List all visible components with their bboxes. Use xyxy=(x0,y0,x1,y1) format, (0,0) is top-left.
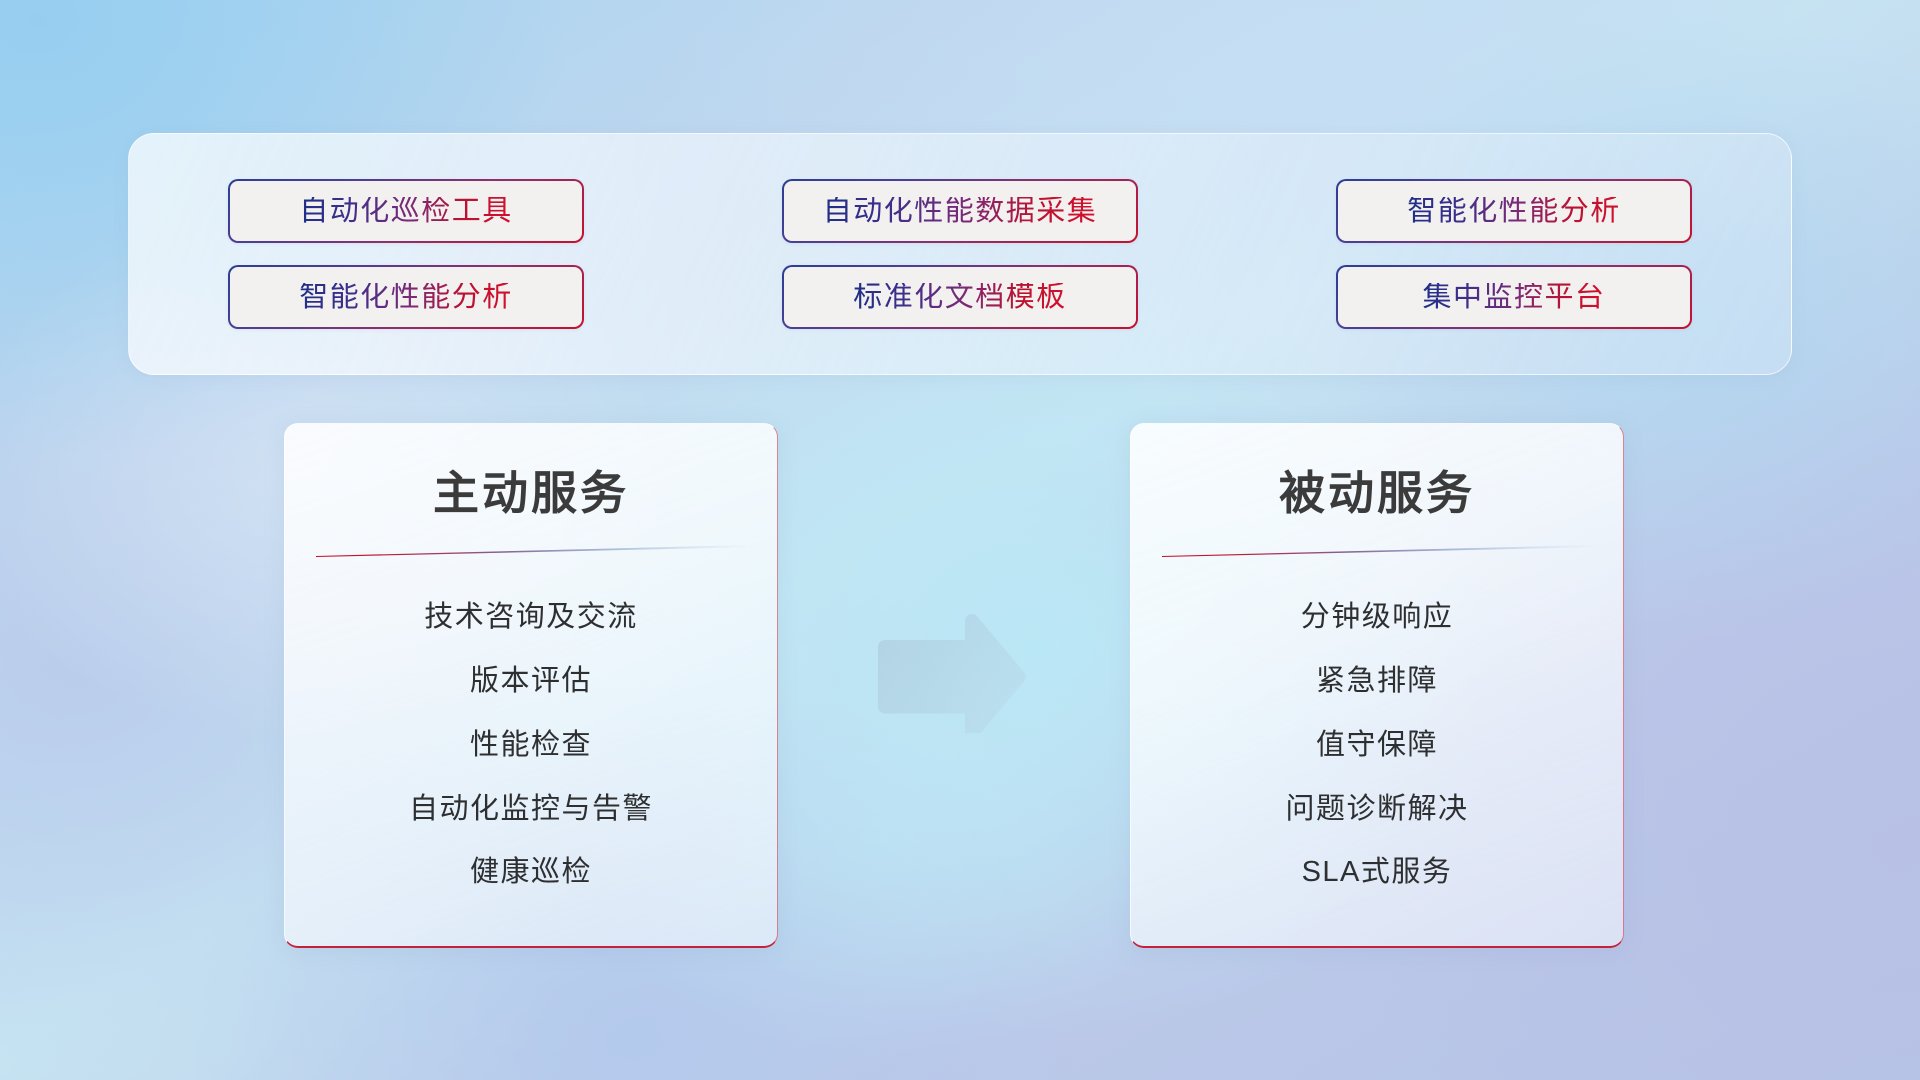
capability-pill-intelligent-performance-analysis-top[interactable]: 智能化性能分析 xyxy=(1336,179,1692,243)
list-item: 版本评估 xyxy=(470,667,592,696)
service-card-active: 主动服务 技术咨询及交流 版本评估 性能检查 自动化监控与告警 健康巡检 xyxy=(284,423,778,948)
card-title: 主动服务 xyxy=(433,468,629,519)
card-divider-accent xyxy=(316,545,746,557)
list-item: SLA式服务 xyxy=(1302,858,1453,887)
list-item: 紧急排障 xyxy=(1316,667,1438,696)
capability-pill-centralized-monitoring-platform[interactable]: 集中监控平台 xyxy=(1336,265,1692,329)
service-card-passive: 被动服务 分钟级响应 紧急排障 值守保障 问题诊断解决 SLA式服务 xyxy=(1130,423,1624,948)
card-divider-accent xyxy=(1162,545,1592,557)
capability-pill-automated-performance-collection[interactable]: 自动化性能数据采集 xyxy=(782,179,1138,243)
list-item: 健康巡检 xyxy=(470,858,592,887)
capability-pill-standardized-doc-template[interactable]: 标准化文档模板 xyxy=(782,265,1138,329)
right-arrow-icon xyxy=(872,613,1032,733)
capability-pill-label: 自动化性能数据采集 xyxy=(823,197,1098,226)
capability-pill-label: 集中监控平台 xyxy=(1422,283,1605,312)
list-item: 性能检查 xyxy=(470,731,592,760)
capability-pill-automated-inspection-tool[interactable]: 自动化巡检工具 xyxy=(228,179,584,243)
capability-pill-label: 标准化文档模板 xyxy=(853,283,1067,312)
service-item-list: 分钟级响应 紧急排障 值守保障 问题诊断解决 SLA式服务 xyxy=(1157,569,1597,922)
capability-pill-label: 智能化性能分析 xyxy=(1407,197,1621,226)
capability-row-1: 自动化巡检工具 自动化性能数据采集 智能化性能分析 xyxy=(129,179,1791,243)
card-title: 被动服务 xyxy=(1279,468,1475,519)
capability-pill-label: 自动化巡检工具 xyxy=(299,197,513,226)
list-item: 自动化监控与告警 xyxy=(409,795,653,824)
capability-pill-intelligent-performance-analysis[interactable]: 智能化性能分析 xyxy=(228,265,584,329)
list-item: 技术咨询及交流 xyxy=(424,603,638,632)
capability-pill-label: 智能化性能分析 xyxy=(299,283,513,312)
list-item: 问题诊断解决 xyxy=(1285,795,1468,824)
capability-row-2: 智能化性能分析 标准化文档模板 集中监控平台 xyxy=(129,265,1791,329)
service-item-list: 技术咨询及交流 版本评估 性能检查 自动化监控与告警 健康巡检 xyxy=(311,569,751,922)
list-item: 值守保障 xyxy=(1316,731,1438,760)
list-item: 分钟级响应 xyxy=(1301,603,1454,632)
capability-panel: 自动化巡检工具 自动化性能数据采集 智能化性能分析 智能化性能分析 标准化文档模… xyxy=(128,133,1792,375)
